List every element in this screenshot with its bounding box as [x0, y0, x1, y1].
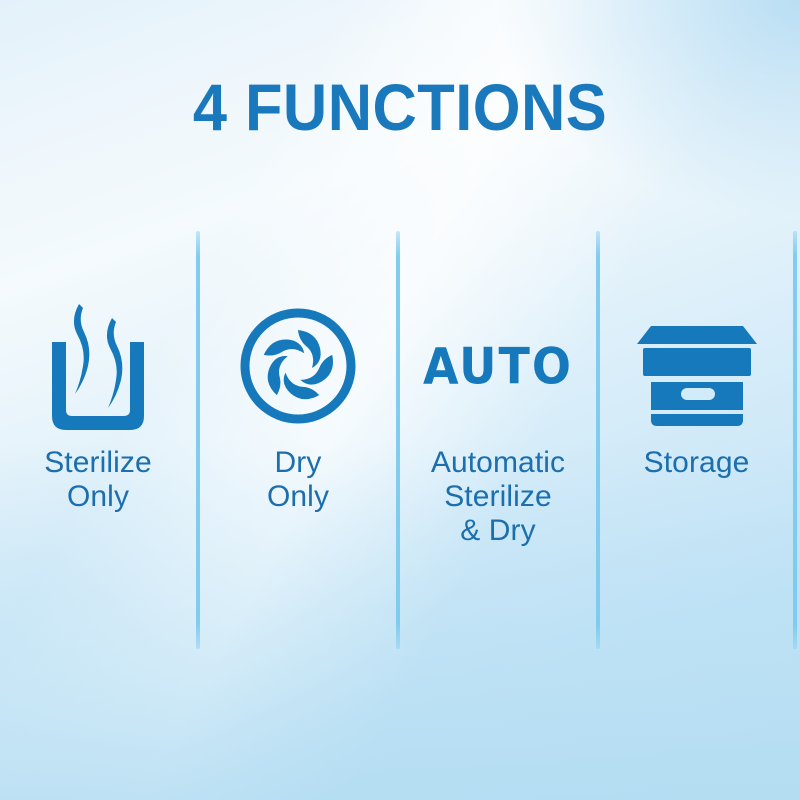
- function-label-dry-only: Dry Only: [200, 446, 396, 514]
- poster-content: 4 FUNCTIONS Sterilize Only: [0, 0, 800, 800]
- storage-box-icon: [633, 304, 761, 428]
- function-label-sterilize-only: Sterilize Only: [0, 446, 196, 514]
- icon-slot-storage: [600, 286, 793, 446]
- page-title: 4 FUNCTIONS: [28, 74, 772, 140]
- steam-container-icon: [46, 298, 150, 434]
- function-label-automatic-sterilize-and-dry: Automatic Sterilize & Dry: [400, 446, 596, 549]
- function-column-sterilize-only: Sterilize Only: [0, 286, 196, 514]
- icon-slot-auto: AUTO: [400, 286, 596, 446]
- column-divider-4: [793, 231, 797, 649]
- function-label-storage: Storage: [600, 446, 793, 480]
- icon-slot-dry: [200, 286, 396, 446]
- auto-text-icon: AUTO: [423, 337, 573, 395]
- function-column-automatic-sterilize-and-dry: AUTO Automatic Sterilize & Dry: [400, 286, 596, 549]
- function-column-storage: Storage: [600, 286, 793, 480]
- function-column-dry-only: Dry Only: [200, 286, 396, 514]
- fan-circle-icon: [236, 304, 360, 428]
- icon-slot-sterilize: [0, 286, 196, 446]
